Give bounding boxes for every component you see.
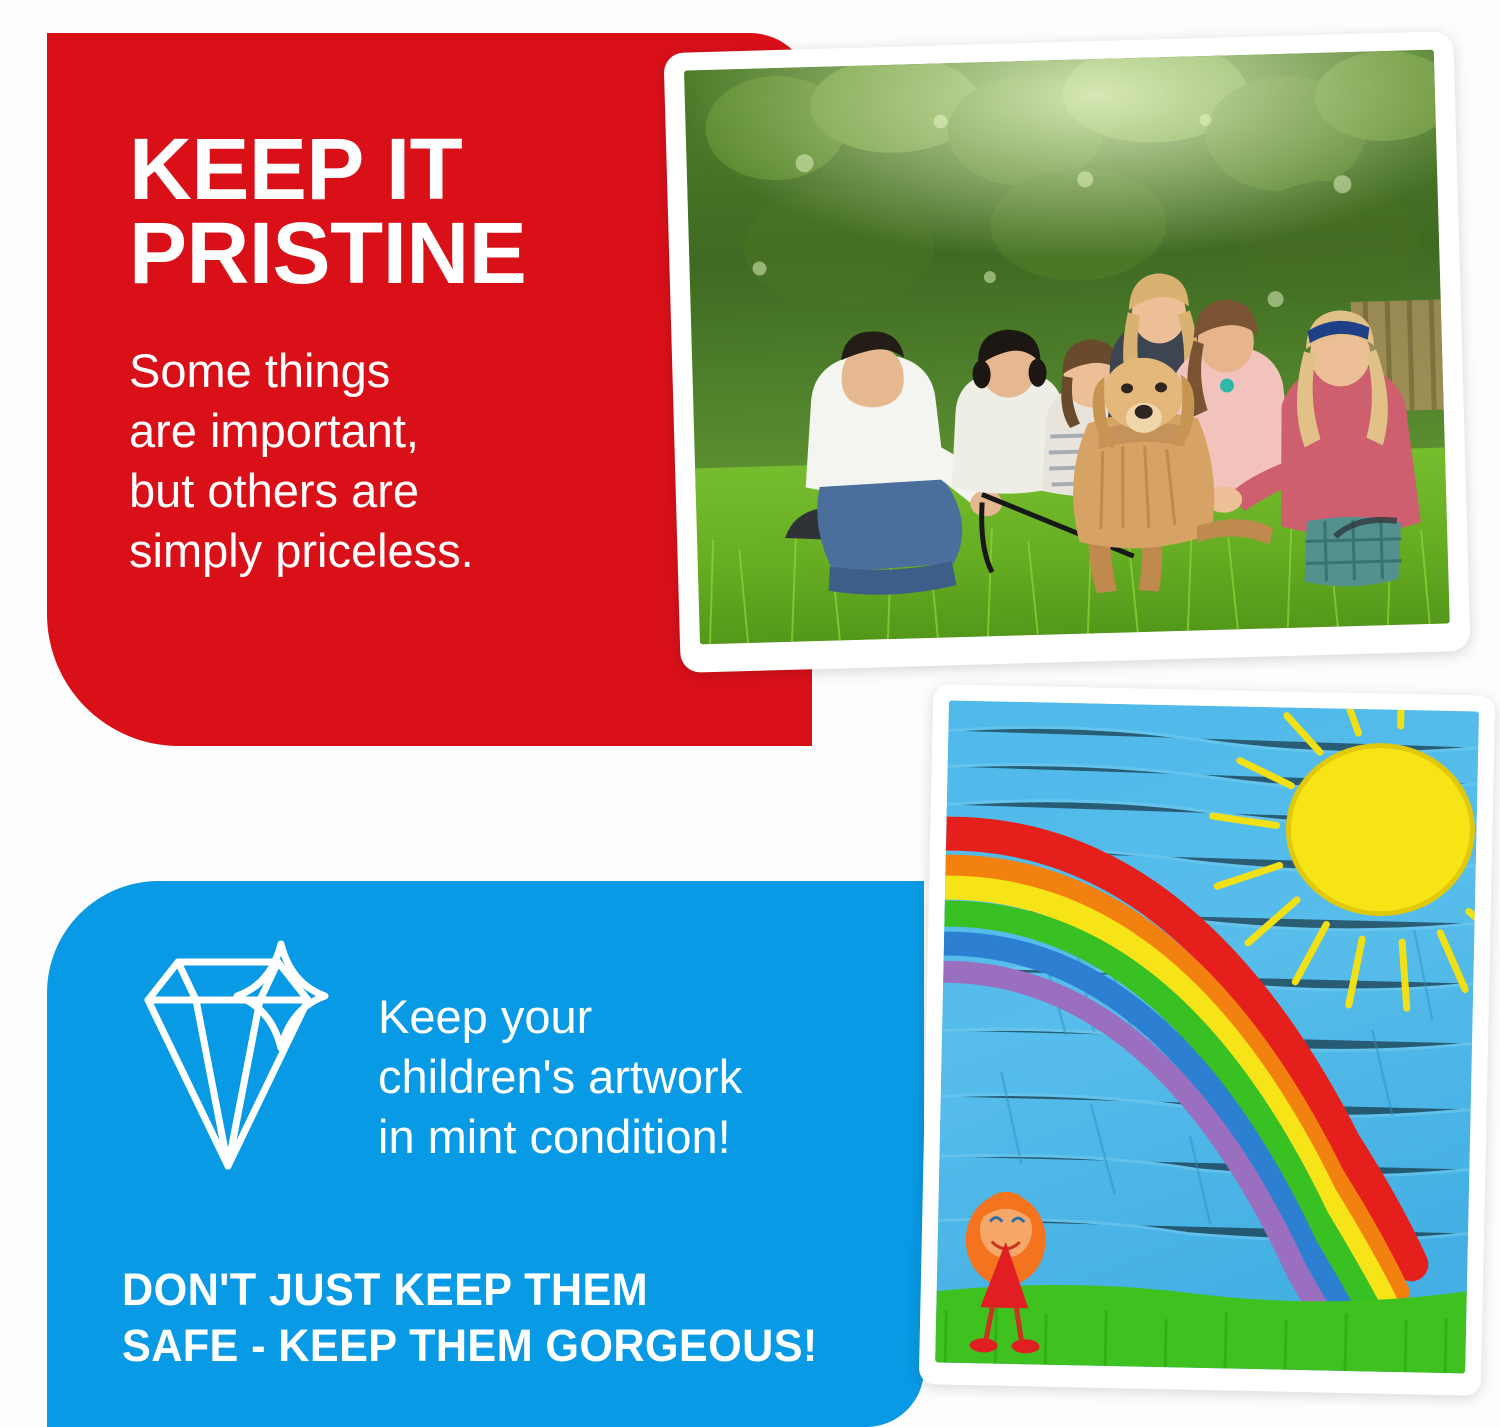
- red-panel-content: KEEP IT PRISTINE Some things are importa…: [129, 128, 689, 581]
- family-photo-card: [663, 31, 1470, 673]
- blue-panel-body-text: Keep your children's artwork in mint con…: [378, 987, 898, 1167]
- family-photo-image: [684, 50, 1450, 645]
- promo-graphic-root: KEEP IT PRISTINE Some things are importa…: [0, 0, 1500, 1427]
- blue-panel-tagline: DON'T JUST KEEP THEM SAFE - KEEP THEM GO…: [122, 1262, 880, 1375]
- red-panel-subtext: Some things are important, but others ar…: [129, 341, 689, 582]
- diamond-sparkle-icon: [118, 938, 336, 1190]
- page-title: KEEP IT PRISTINE: [129, 128, 689, 297]
- childrens-artwork-image: [935, 701, 1479, 1374]
- childrens-artwork-card: [919, 684, 1496, 1396]
